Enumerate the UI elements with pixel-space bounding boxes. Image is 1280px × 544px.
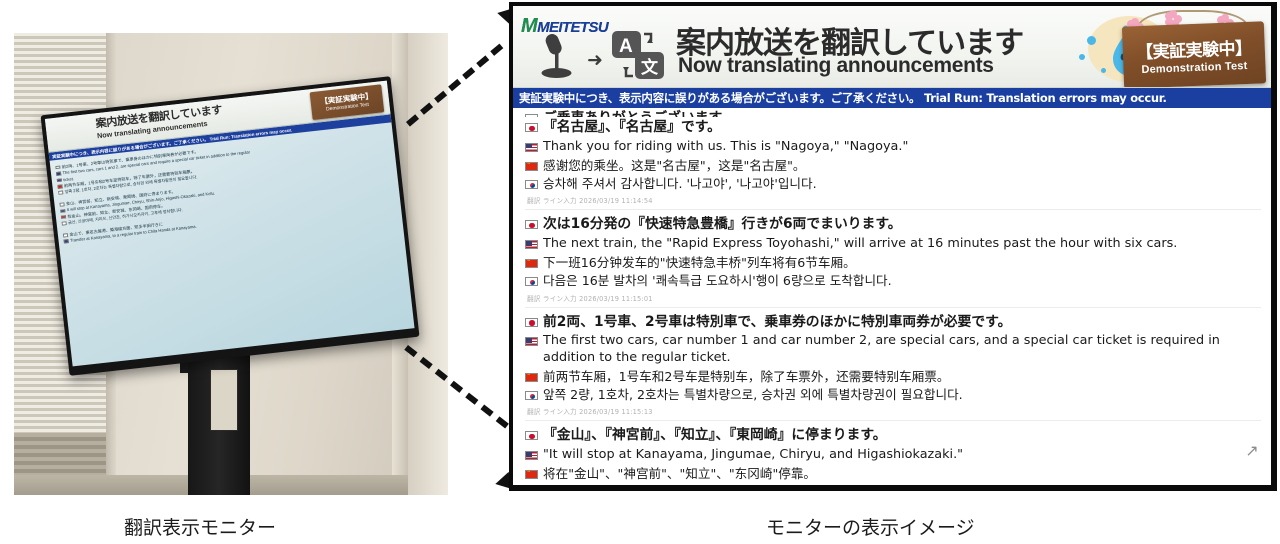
flag-en-icon (525, 240, 538, 249)
transcript-row-en: Thank you for riding with us. This is "N… (525, 138, 1261, 157)
flag-cn-icon (525, 470, 538, 479)
transcript-text-cn: 下一班16分钟发车的"快速特急丰桥"列车将有6节车厢。 (543, 255, 856, 271)
expand-icon[interactable]: ↗ (1243, 443, 1261, 461)
flag-jp-icon (525, 123, 538, 132)
transcript-timestamp: 翻訳 ライン入力 2026/03/19 11:14:54 (525, 193, 1261, 208)
transcript-row-cn: 感谢您的乘坐。这是"名古屋"，这是"名古屋"。 (525, 157, 1261, 175)
transcript-text-cn: 前两节车厢，1号车和2号车是特别车，除了车票外，还需要特别车厢票。 (543, 369, 949, 385)
photo-flag-icon (58, 191, 63, 195)
translation-transcript: ご乗車ありがとうございます。『名古屋』、『名古屋』です。Thank you fo… (513, 108, 1271, 485)
physical-monitor-screen: 案内放送を翻訳しています Now translating announcemen… (45, 81, 415, 367)
photo-flag-icon (55, 165, 60, 169)
photo-flag-icon (56, 172, 61, 176)
microphone-icon (535, 32, 581, 85)
flag-jp-icon (525, 114, 538, 117)
transcript-text-ko: 「금산, 신궁마에, 지리쓰, 동오카자키에 정차합니다。」 (543, 484, 834, 485)
flag-en-icon (525, 143, 538, 152)
photo-flag-icon (62, 222, 67, 226)
transcript-text-en: The first two cars, car number 1 and car… (543, 333, 1261, 366)
transcript-entry[interactable]: 『金山』、『神宮前』、『知立』、『東岡崎』に停まります。"It will sto… (525, 425, 1261, 485)
photo-flag-icon (57, 178, 62, 182)
transcript-row-jp: 次は16分発の『快速特急豊橋』行きが6両でまいります。 (525, 215, 1261, 235)
photo-flag-icon (60, 209, 65, 213)
transcript-text-jp: 前2両、1号車、2号車は特別車で、乗車券のほかに特別車両券が必要です。 (543, 314, 1011, 332)
transcript-entry[interactable]: 次は16分発の『快速特急豊橋』行きが6両でまいります。The next trai… (525, 214, 1261, 311)
transcript-row-jp: 『金山』、『神宮前』、『知立』、『東岡崎』に停まります。 (525, 426, 1261, 446)
transcript-text-cn: 将在"金山"、"神宫前"、"知立"、"东冈崎"停靠。 (543, 466, 816, 482)
flag-ko-icon (525, 277, 538, 286)
mockup-header-banner: MMEITETSU ➜ A (513, 6, 1271, 88)
mockup-screen: MMEITETSU ➜ A (513, 6, 1271, 485)
installation-photo: 案内放送を翻訳しています Now translating announcemen… (14, 33, 448, 495)
entry-divider (525, 307, 1261, 308)
svg-text:文: 文 (641, 57, 659, 78)
transcript-entry[interactable]: 前2両、1号車、2号車は特別車で、乗車券のほかに特別車両券が必要です。The f… (525, 312, 1261, 426)
transcript-text-en: The next train, the "Rapid Express Toyoh… (543, 236, 1177, 253)
transcript-text-en: "It will stop at Kanayama, Jingumae, Chi… (543, 447, 963, 464)
flag-en-icon (525, 451, 538, 460)
transcript-text-jp: 『金山』、『神宮前』、『知立』、『東岡崎』に停まります。 (543, 427, 887, 445)
transcript-row-jp: 前2両、1号車、2号車は特別車で、乗車券のほかに特別車両券が必要です。 (525, 313, 1261, 333)
photo-flag-icon (59, 203, 64, 207)
sign-label-jp: 【実証実験中】 (1136, 34, 1252, 63)
physical-monitor: 案内放送を翻訳しています Now translating announcemen… (40, 76, 419, 376)
transcript-timestamp: 翻訳 ライン入力 2026/03/19 11:15:13 (525, 404, 1261, 419)
transcript-row-jp: 『名古屋』、『名古屋』です。 (525, 118, 1261, 138)
photo-demonstration-sign: 【実証実験中】 Demonstration Test (310, 84, 385, 120)
notice-bar: 実証実験中につき、表示内容に誤りがある場合がございます。ご了承ください。 Tri… (513, 88, 1271, 108)
flag-en-icon (525, 337, 538, 346)
photo-flag-icon (63, 233, 68, 237)
transcript-row-cn: 将在"金山"、"神宫前"、"知立"、"东冈崎"停靠。 (525, 465, 1261, 483)
transcript-row-ko: 승차해 주셔서 감사합니다. '나고야', '나고야'입니다. (525, 175, 1261, 193)
flag-jp-icon (525, 431, 538, 440)
transcript-timestamp: 翻訳 ライン入力 2026/03/19 11:15:01 (525, 291, 1261, 306)
transcript-row-en: "It will stop at Kanayama, Jingumae, Chi… (525, 446, 1261, 465)
entry-divider (525, 209, 1261, 210)
photo-flag-icon (64, 240, 69, 244)
transcript-text-jp: 次は16分発の『快速特急豊橋』行きが6両でまいります。 (543, 216, 902, 234)
transcript-text-cn: 感谢您的乘坐。这是"名古屋"，这是"名古屋"。 (543, 158, 805, 174)
figure-root: 案内放送を翻訳しています Now translating announcemen… (0, 0, 1280, 544)
flag-ko-icon (525, 180, 538, 189)
transcript-row-ko: 앞쪽 2량, 1호차, 2호차는 특별차량으로, 승차권 외에 특별차량권이 필… (525, 386, 1261, 404)
photo-flag-icon (57, 184, 62, 188)
transcript-entries: ご乗車ありがとうございます。『名古屋』、『名古屋』です。Thank you fo… (525, 108, 1261, 485)
transcript-row-en: The next train, the "Rapid Express Toyoh… (525, 235, 1261, 254)
transcript-row-ko: 다음은 16분 발차의 '쾌속특급 도요하시'행이 6량으로 도착합니다. (525, 272, 1261, 290)
caption-right: モニターの表示イメージ (766, 513, 975, 540)
transcript-text-ko: 다음은 16분 발차의 '쾌속특급 도요하시'행이 6량으로 도착합니다. (543, 273, 892, 289)
demonstration-sign: 【実証実験中】 Demonstration Test (1119, 8, 1267, 88)
transcript-row-jp: ご乗車ありがとうございます。 (525, 109, 1261, 117)
transcript-text-ko: 승차해 주셔서 감사합니다. '나고야', '나고야'입니다. (543, 176, 817, 192)
flag-ko-icon (525, 391, 538, 400)
splash-dot-1 (1087, 36, 1096, 45)
monitor-stand-cutout (210, 369, 238, 431)
flag-cn-icon (525, 162, 538, 171)
flag-cn-icon (525, 373, 538, 382)
transcript-text-en: Thank you for riding with us. This is "N… (543, 139, 908, 156)
arrow-right-icon: ➜ (587, 49, 603, 72)
transcript-text-jp: ご乗車ありがとうございます。 (543, 110, 735, 117)
splash-dot-5 (1101, 68, 1106, 73)
translate-icon: A 文 (611, 30, 667, 87)
entry-divider (525, 420, 1261, 421)
transcript-row-ko: 「금산, 신궁마에, 지리쓰, 동오카자키에 정차합니다。」 (525, 483, 1261, 485)
monitor-display-mockup: MMEITETSU ➜ A (509, 2, 1277, 491)
flag-cn-icon (525, 259, 538, 268)
transcript-row-cn: 下一班16分钟发车的"快速特急丰桥"列车将有6节车厢。 (525, 254, 1261, 272)
mockup-title-en: Now translating announcements (678, 54, 994, 78)
svg-text:A: A (619, 36, 633, 57)
transcript-text-ko: 앞쪽 2량, 1호차, 2호차는 특별차량으로, 승차권 외에 특별차량권이 필… (543, 387, 963, 403)
sign-board: 【実証実験中】 Demonstration Test (1122, 21, 1266, 88)
photo-flag-icon (61, 215, 66, 219)
caption-left: 翻訳表示モニター (124, 513, 276, 540)
transcript-text-jp: 『名古屋』、『名古屋』です。 (543, 119, 721, 137)
transcript-entry[interactable]: ご乗車ありがとうございます。 (525, 108, 1261, 117)
flag-jp-icon (525, 318, 538, 327)
flag-jp-icon (525, 220, 538, 229)
transcript-row-en: The first two cars, car number 1 and car… (525, 332, 1261, 367)
transcript-row-cn: 前两节车厢，1号车和2号车是特别车，除了车票外，还需要特别车厢票。 (525, 368, 1261, 386)
transcript-entry[interactable]: 『名古屋』、『名古屋』です。Thank you for riding with … (525, 117, 1261, 214)
splash-dot-2 (1079, 54, 1085, 60)
